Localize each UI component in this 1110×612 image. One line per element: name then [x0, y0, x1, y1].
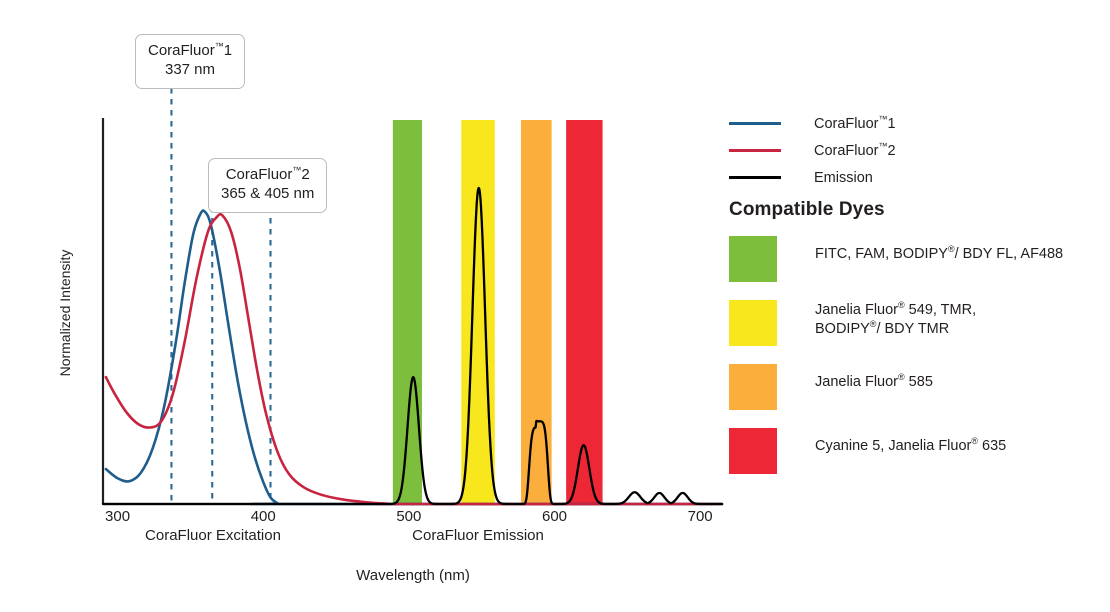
x-tick-700: 700	[670, 508, 730, 525]
dye-label: Janelia Fluor® 549, TMR,BODIPY®/ BDY TMR	[815, 300, 976, 340]
callout-coraflour1-title: CoraFluor™1	[148, 42, 232, 61]
dye-color-swatch	[729, 428, 777, 474]
legend-item-label: CoraFluor™2	[814, 143, 896, 159]
callout-coraflour2-value: 365 & 405 nm	[221, 185, 314, 204]
emission-bands-group	[393, 120, 603, 504]
region-label-emission: CoraFluor Emission	[328, 527, 628, 544]
callout-coraflour1-value: 337 nm	[148, 61, 232, 80]
x-tick-600: 600	[525, 508, 585, 525]
legend-item[interactable]: CoraFluor™2	[729, 137, 1099, 164]
registered-icon: ®	[898, 300, 905, 310]
y-axis-label: Normalized Intensity	[57, 223, 73, 403]
dye-list-item[interactable]: Cyanine 5, Janelia Fluor® 635	[729, 428, 1104, 474]
region-label-excitation: CoraFluor Excitation	[63, 527, 363, 544]
callout-coraflour1-suffix: 1	[224, 42, 232, 59]
series-legend: CoraFluor™1 CoraFluor™2 Emission	[729, 110, 1099, 191]
x-tick-500: 500	[379, 508, 439, 525]
callout-coraflour2-title: CoraFluor™2	[221, 166, 314, 185]
legend-item[interactable]: CoraFluor™1	[729, 110, 1099, 137]
x-tick-300: 300	[88, 508, 148, 525]
dye-label: FITC, FAM, BODIPY®/ BDY FL, AF488	[815, 236, 1063, 264]
legend-line-swatch	[729, 149, 781, 152]
marker-dashed-lines	[171, 88, 270, 504]
callout-coraflour2: CoraFluor™2 365 & 405 nm	[208, 158, 327, 213]
trademark-icon: ™	[215, 41, 224, 51]
dye-color-swatch	[729, 300, 777, 346]
legend-line-swatch	[729, 176, 781, 179]
dye-color-swatch	[729, 364, 777, 410]
x-axis-title: Wavelength (nm)	[213, 567, 613, 584]
legend-item-label: CoraFluor™1	[814, 116, 896, 132]
dye-color-swatch	[729, 236, 777, 282]
callout-coraflour2-suffix: 2	[301, 166, 309, 183]
legend-item[interactable]: Emission	[729, 164, 1099, 191]
dye-label: Janelia Fluor® 585	[815, 364, 933, 392]
compatible-dyes-heading: Compatible Dyes	[729, 199, 885, 221]
legend-line-swatch	[729, 122, 781, 125]
dye-list-item[interactable]: FITC, FAM, BODIPY®/ BDY FL, AF488	[729, 236, 1104, 282]
dye-label: Cyanine 5, Janelia Fluor® 635	[815, 428, 1006, 456]
registered-icon: ®	[898, 372, 905, 382]
spectra-figure: CoraFluor™1 337 nm CoraFluor™2 365 & 405…	[0, 0, 1110, 612]
callout-coraflour2-base: CoraFluor	[226, 166, 293, 183]
x-tick-400: 400	[233, 508, 293, 525]
green-band	[393, 120, 422, 504]
legend-item-label: Emission	[814, 170, 873, 186]
compatible-dyes-list: FITC, FAM, BODIPY®/ BDY FL, AF488 Janeli…	[729, 236, 1104, 492]
dye-list-item[interactable]: Janelia Fluor® 549, TMR,BODIPY®/ BDY TMR	[729, 300, 1104, 346]
callout-coraflour1-base: CoraFluor	[148, 42, 215, 59]
registered-icon: ®	[948, 244, 955, 254]
callout-coraflour1: CoraFluor™1 337 nm	[135, 34, 245, 89]
dye-list-item[interactable]: Janelia Fluor® 585	[729, 364, 1104, 410]
